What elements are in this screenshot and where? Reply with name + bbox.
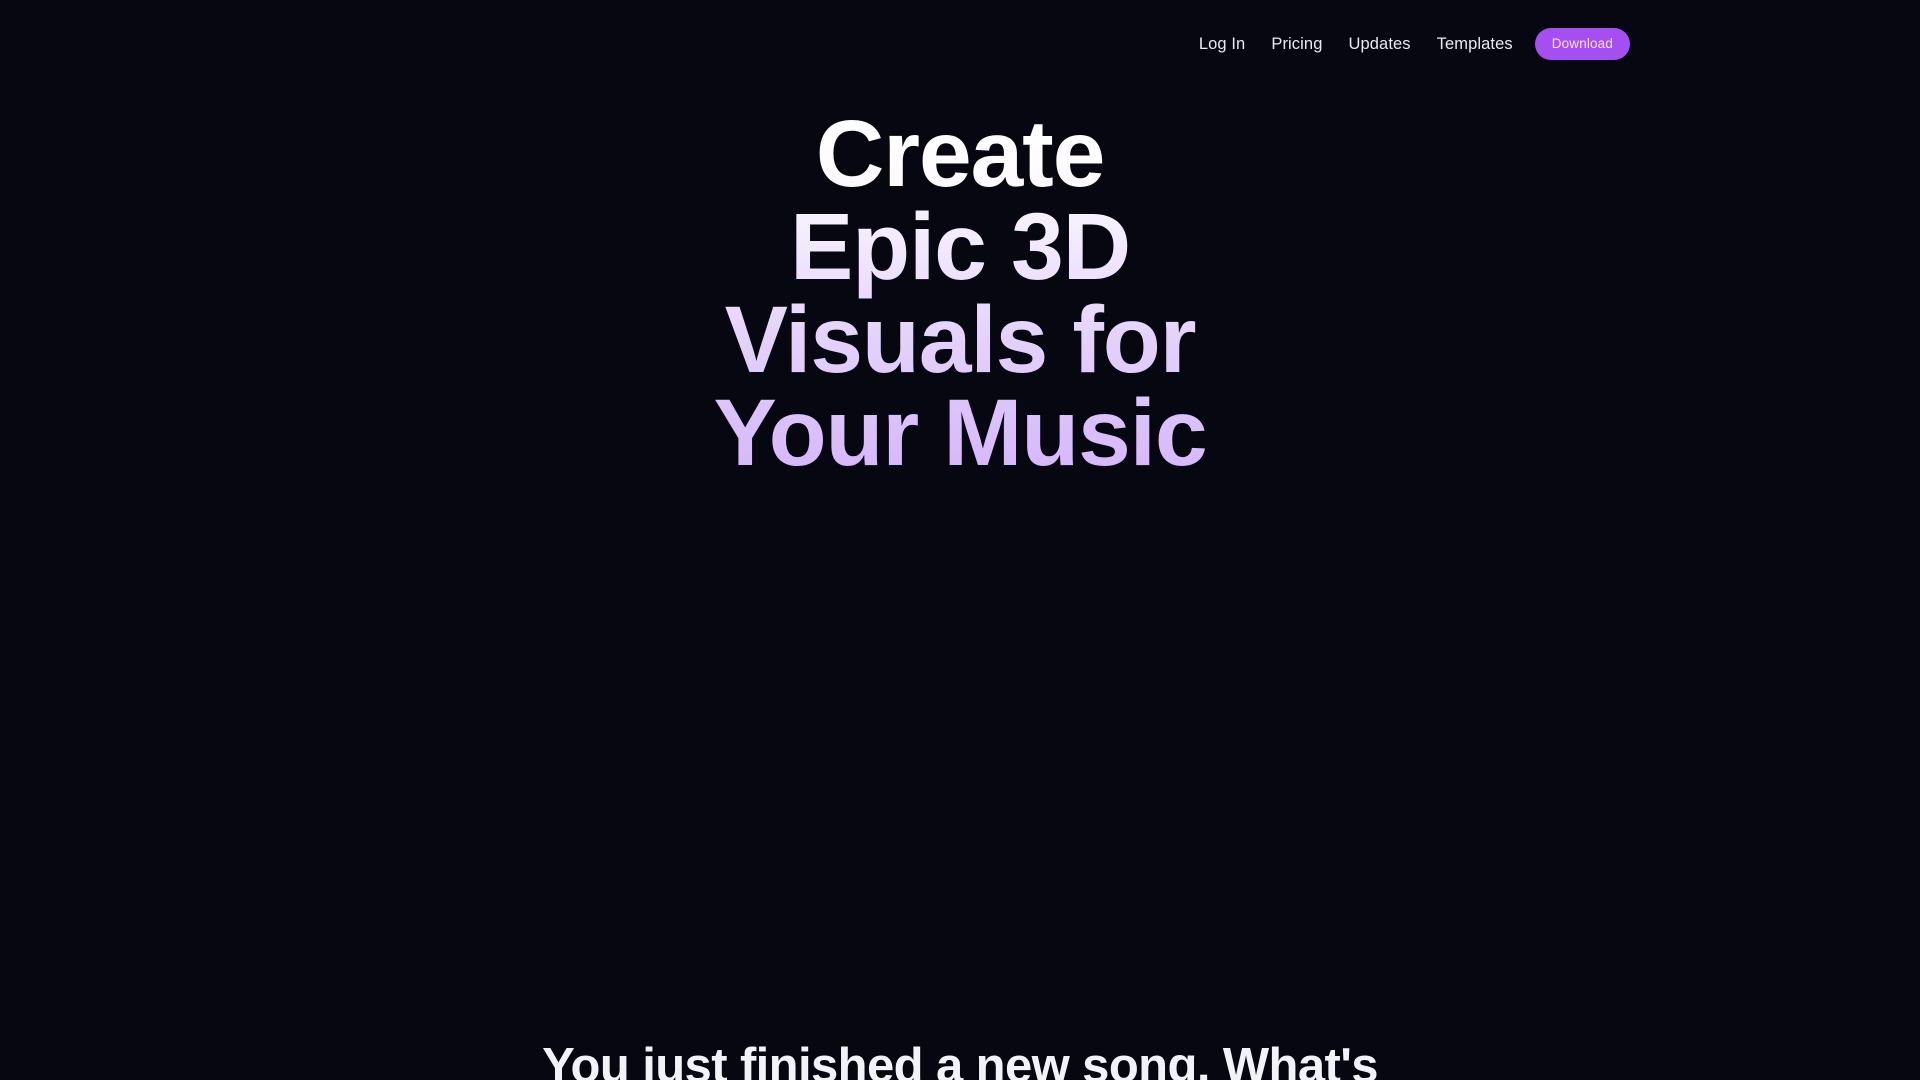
hero-headline: Create Epic 3D Visuals for Your Music [0, 108, 1920, 480]
nav-link-pricing[interactable]: Pricing [1258, 28, 1335, 61]
hero-headline-line-1: Create [0, 108, 1920, 201]
hero-headline-line-4: Your Music [0, 387, 1920, 480]
nav-link-log-in[interactable]: Log In [1186, 28, 1258, 61]
hero-section: Create Epic 3D Visuals for Your Music [0, 0, 1920, 1000]
site-header: Log In Pricing Updates Templates Downloa… [0, 0, 1920, 88]
intro-section: You just finished a new song. What's [0, 1000, 1920, 1080]
landing-page: Log In Pricing Updates Templates Downloa… [0, 0, 1920, 1080]
download-button-wrapper: Download [1535, 28, 1630, 60]
intro-section-heading: You just finished a new song. What's [0, 1036, 1920, 1080]
primary-navigation: Log In Pricing Updates Templates Downloa… [1186, 28, 1630, 61]
hero-headline-line-2: Epic 3D [0, 201, 1920, 294]
download-button[interactable]: Download [1535, 28, 1630, 60]
nav-link-templates[interactable]: Templates [1424, 28, 1526, 61]
nav-link-updates[interactable]: Updates [1335, 28, 1423, 61]
hero-visual-stage [0, 520, 1920, 990]
hero-headline-line-3: Visuals for [0, 294, 1920, 387]
